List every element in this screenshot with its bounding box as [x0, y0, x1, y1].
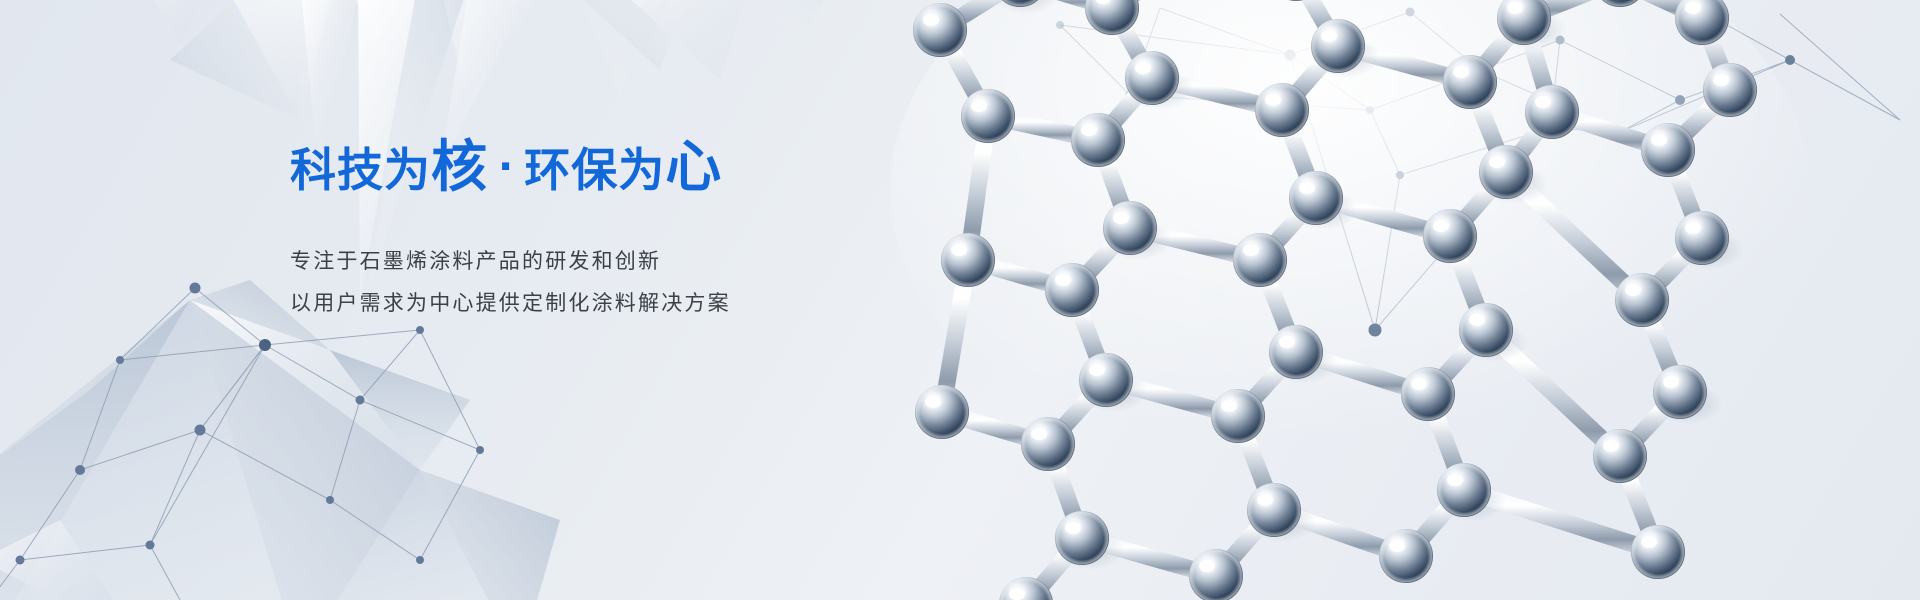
headline-part-3: 环保为: [524, 143, 665, 197]
headline-separator-dot: ·: [488, 144, 524, 190]
headline-part-1: 科技为: [290, 143, 431, 197]
headline-emphasis-he: 核: [431, 135, 488, 200]
hero-copy-block: 科技为核·环保为心 专注于石墨烯涂料产品的研发和创新 以用户需求为中心提供定制化…: [290, 140, 1050, 324]
hero-banner: 科技为核·环保为心 专注于石墨烯涂料产品的研发和创新 以用户需求为中心提供定制化…: [0, 0, 1920, 600]
subtitle-line-2: 以用户需求为中心提供定制化涂料解决方案: [290, 282, 1050, 324]
headline-emphasis-xin: 心: [665, 135, 722, 200]
subtitle-line-1: 专注于石墨烯涂料产品的研发和创新: [290, 240, 1050, 282]
page-title: 科技为核·环保为心: [290, 140, 1050, 196]
